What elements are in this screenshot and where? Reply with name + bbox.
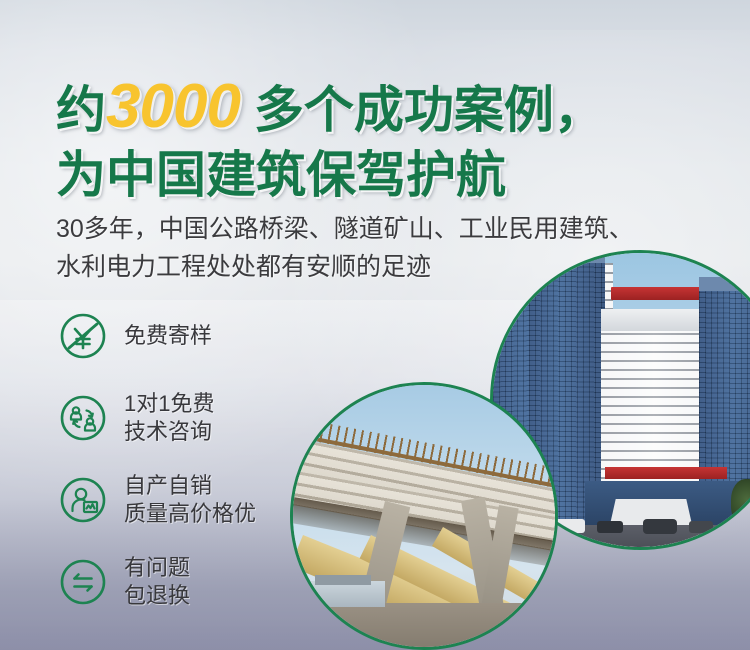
feature-item-return: 有问题 包退换: [58, 541, 256, 623]
feature-text-return: 有问题 包退换: [124, 554, 190, 610]
bridge-photo-inner: [293, 385, 555, 647]
vehicle-dark-suv: [643, 519, 677, 534]
feature-line-2: 包退换: [124, 582, 190, 610]
feature-line-1: 有问题: [124, 555, 190, 580]
exchange-return-icon: [58, 557, 108, 607]
feature-line-1: 1对1免费: [124, 391, 214, 416]
vehicle-dark-car-2: [689, 521, 713, 533]
promo-banner: 约3000 多个成功案例， 为中国建筑保驾护航 30多年，中国公路桥梁、隧道矿山…: [0, 0, 750, 650]
right-tower-crown: [699, 277, 750, 291]
one-on-one-consultation-icon: [58, 393, 108, 443]
entrance-red-sign: [605, 467, 727, 479]
feature-line-2: 技术咨询: [124, 418, 214, 446]
headline-number: 3000: [106, 72, 240, 141]
feature-text-consultation: 1对1免费 技术咨询: [124, 390, 214, 446]
no-fee-yuan-icon: [58, 311, 108, 361]
feature-item-consultation: 1对1免费 技术咨询: [58, 377, 256, 459]
headline: 约3000 多个成功案例， 为中国建筑保驾护航: [56, 76, 604, 200]
construction-ground: [293, 603, 555, 647]
subtitle-line-1: 30多年，中国公路桥梁、隧道矿山、工业民用建筑、: [56, 210, 634, 248]
rooftop-red-sign-top: [611, 287, 709, 300]
headline-prefix: 约: [56, 82, 106, 138]
headline-line-2: 为中国建筑保驾护航: [56, 150, 604, 200]
feature-line-1: 自产自销: [124, 473, 212, 498]
feature-text-free-sample: 免费寄样: [124, 322, 212, 350]
feature-item-quality: 自产自销 质量高价格优: [58, 459, 256, 541]
distant-scaffold: [315, 575, 371, 585]
feature-list: 免费寄样 1对1免费 技术咨询: [58, 295, 256, 623]
feature-line-2: 质量高价格优: [124, 500, 256, 528]
entrance-tree: [731, 479, 750, 525]
feature-line-1: 免费寄样: [124, 323, 212, 348]
feature-text-quality: 自产自销 质量高价格优: [124, 472, 256, 528]
main-tower-crown: [529, 253, 605, 263]
headline-suffix: 多个成功案例，: [240, 82, 604, 138]
bridge-photo: [290, 382, 558, 650]
vehicle-white-van: [555, 519, 585, 533]
feature-item-free-sample: 免费寄样: [58, 295, 256, 377]
headline-line-1: 约3000 多个成功案例，: [56, 76, 604, 138]
vehicle-dark-car-1: [597, 521, 623, 533]
self-production-quality-icon: [58, 475, 108, 525]
